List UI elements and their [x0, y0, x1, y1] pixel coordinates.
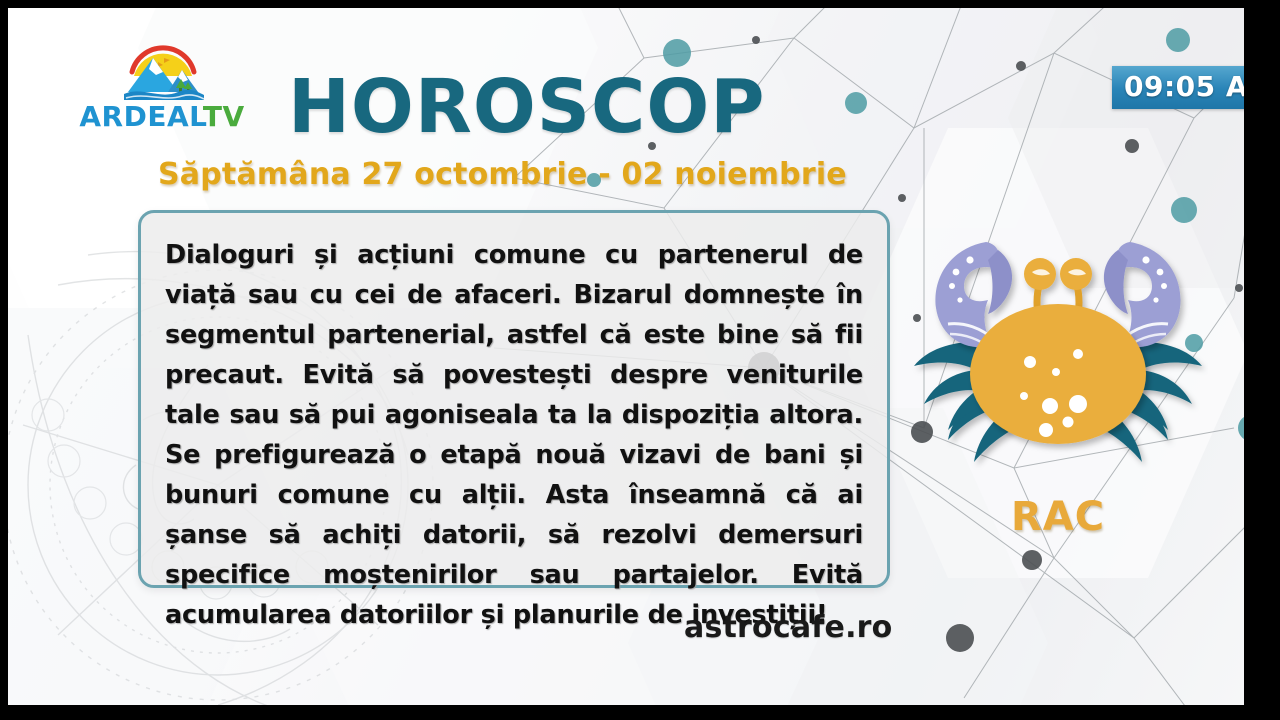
horoscope-text-panel: Dialoguri și acțiuni comune cu parteneru…	[138, 210, 890, 588]
zodiac-sign-name: RAC	[908, 494, 1208, 540]
channel-logo: ARDEALTV	[74, 42, 250, 138]
crab-icon	[908, 226, 1208, 486]
broadcast-content-area: ARDEALTV HOROSCOP Săptămâna 27 octombrie…	[8, 8, 1244, 705]
channel-name-secondary: TV	[203, 100, 245, 133]
horoscope-body-text: Dialoguri și acțiuni comune cu parteneru…	[165, 235, 863, 635]
channel-wordmark: ARDEALTV	[74, 100, 250, 133]
date-range-subtitle: Săptămâna 27 octombrie - 02 noiembrie	[158, 158, 847, 191]
mountain-sun-logo-icon	[120, 42, 206, 104]
page-title: HOROSCOP	[288, 70, 765, 144]
clock-badge: 09:05 AM	[1112, 66, 1244, 109]
broadcast-screen: ARDEALTV HOROSCOP Săptămâna 27 octombrie…	[0, 0, 1280, 720]
channel-name-primary: ARDEAL	[79, 100, 202, 133]
zodiac-sign-block: RAC	[908, 226, 1208, 556]
source-website: astrocafe.ro	[684, 610, 892, 645]
